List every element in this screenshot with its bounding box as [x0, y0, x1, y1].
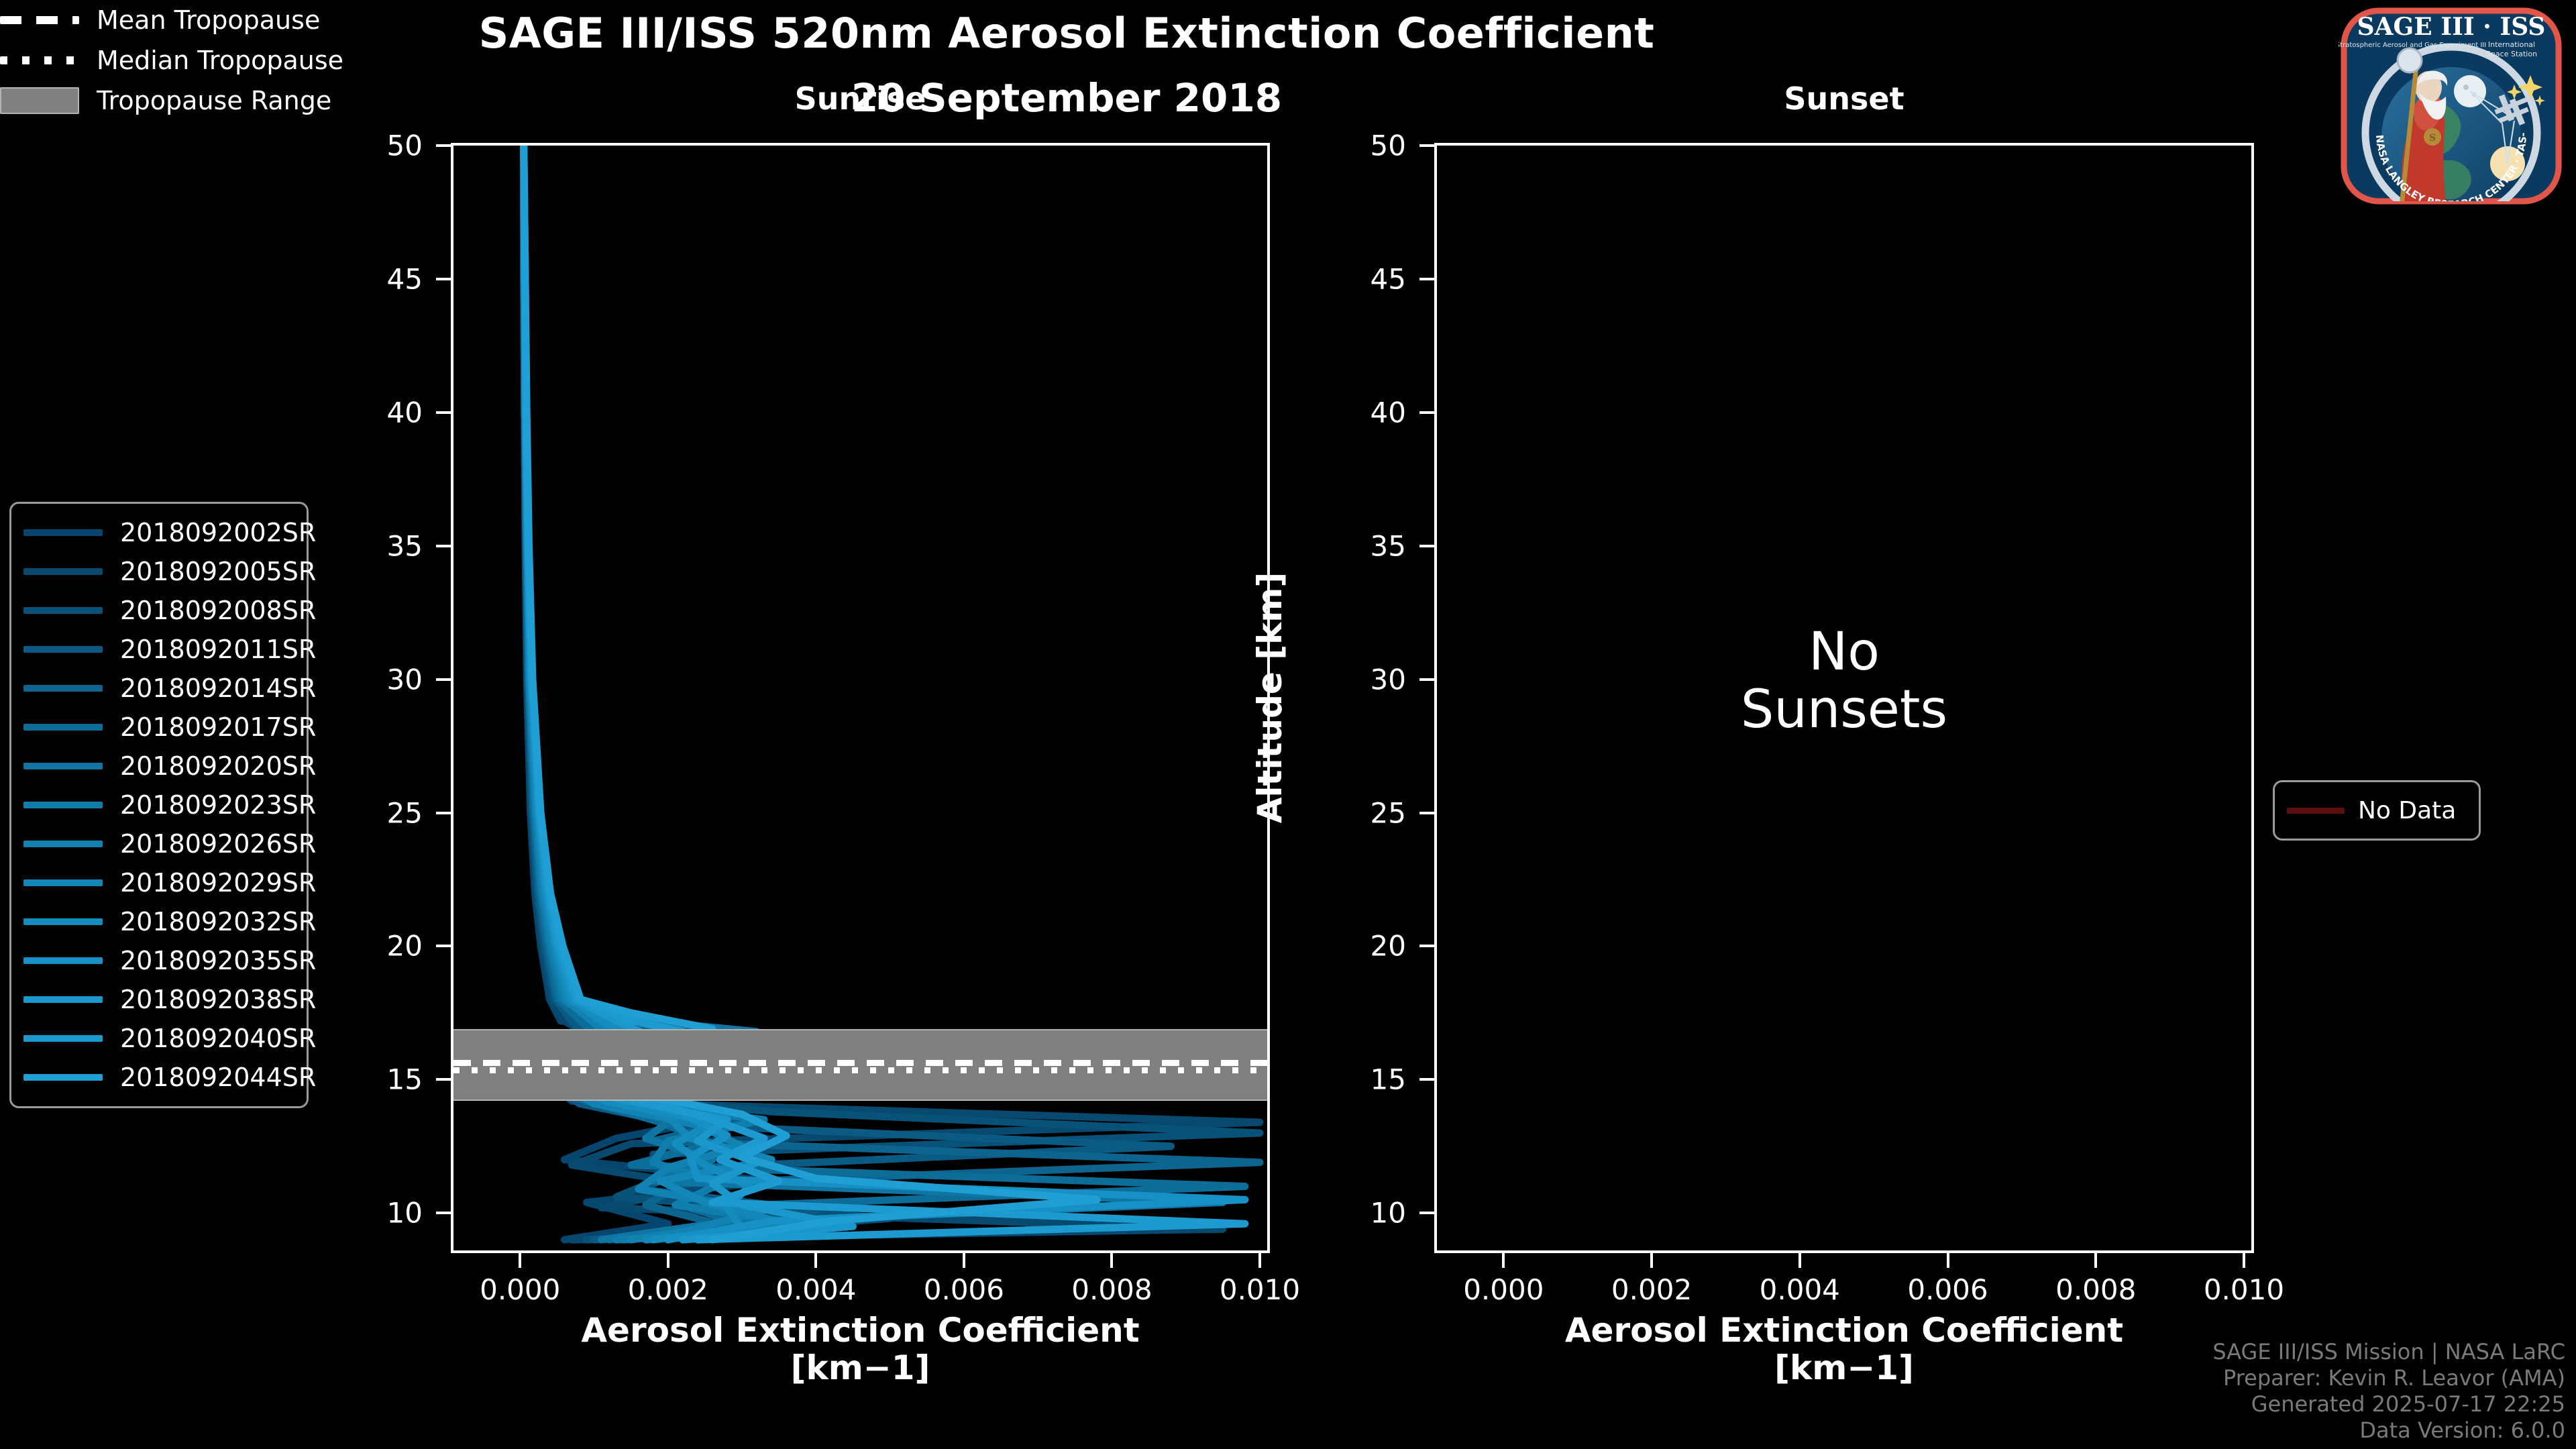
- y-tick-0-8: [436, 144, 451, 147]
- x-tick-1-2: [1799, 1253, 1801, 1268]
- legend-row[interactable]: 2018092002SR: [23, 513, 294, 552]
- legend-line-swatch-2018092008SR: [23, 607, 103, 614]
- svg-text:S: S: [2429, 133, 2436, 144]
- y-tick-1-6: [1419, 411, 1434, 414]
- sunrise-x-axis-title-line2: [km−1]: [451, 1349, 1270, 1387]
- logo-subtitle-right-line1: International: [2488, 40, 2535, 49]
- no-data-line-swatch: [2287, 808, 2345, 814]
- y-tick-0-0: [436, 1212, 451, 1214]
- x-tick-1-4: [2094, 1253, 2097, 1268]
- y-tick-1-2: [1419, 945, 1434, 947]
- legend-line-swatch-2018092029SR: [23, 879, 103, 886]
- legend-row[interactable]: 2018092005SR: [23, 552, 294, 591]
- x-tick-1-3: [1947, 1253, 1949, 1268]
- x-tick-0-4: [1110, 1253, 1113, 1268]
- legend-row: No Data: [2287, 792, 2467, 829]
- legend-row[interactable]: 2018092032SR: [23, 902, 294, 941]
- sunrise-x-axis-title-line1: Aerosol Extinction Coefficient: [451, 1311, 1270, 1349]
- y-tick-1-7: [1419, 278, 1434, 280]
- no-sunsets-message: No Sunsets: [1434, 624, 2254, 739]
- y-tick-label-0-0: 10: [295, 1197, 423, 1230]
- legend-label-2018092038SR: 2018092038SR: [120, 985, 316, 1014]
- median-tropopause-line: [453, 1067, 1267, 1073]
- mean-tropopause-line: [453, 1060, 1267, 1066]
- logo-subtitle-left: Stratospheric Aerosol and Gas Experiment…: [2339, 42, 2486, 49]
- legend-line-swatch-2018092005SR: [23, 568, 103, 575]
- legend-row[interactable]: 2018092008SR: [23, 591, 294, 630]
- legend-label-2018092008SR: 2018092008SR: [120, 596, 316, 625]
- footer-line-mission: SAGE III/ISS Mission | NASA LaRC: [2212, 1339, 2565, 1365]
- legend-line-swatch-2018092020SR: [23, 763, 103, 769]
- no-sunsets-line1: No: [1434, 624, 2254, 682]
- sage-iii-iss-mission-logo: S BALL · NASA LANGLEY RESEARCH CENTER · …: [2339, 5, 2564, 207]
- legend-row[interactable]: 2018092020SR: [23, 747, 294, 786]
- legend-label-2018092002SR: 2018092002SR: [120, 518, 316, 547]
- sunset-x-axis-title: Aerosol Extinction Coefficient [km−1]: [1434, 1311, 2254, 1387]
- no-data-label: No Data: [2358, 797, 2456, 824]
- legend-label-2018092020SR: 2018092020SR: [120, 751, 316, 781]
- footer-line-preparer: Preparer: Kevin R. Leavor (AMA): [2212, 1365, 2565, 1391]
- legend-row[interactable]: 2018092026SR: [23, 824, 294, 863]
- y-tick-label-1-7: 45: [1279, 262, 1406, 295]
- footer-line-dataversion: Data Version: 6.0.0: [2212, 1417, 2565, 1444]
- y-tick-0-2: [436, 945, 451, 947]
- y-tick-1-3: [1419, 812, 1434, 814]
- footer-credits: SAGE III/ISS Mission | NASA LaRC Prepare…: [2212, 1339, 2565, 1444]
- mission-patch-icon: S BALL · NASA LANGLEY RESEARCH CENTER · …: [2339, 5, 2564, 207]
- y-tick-0-6: [436, 411, 451, 414]
- legend-row[interactable]: 2018092014SR: [23, 669, 294, 708]
- panel-title-sunrise: Sunrise: [451, 80, 1270, 117]
- y-tick-label-1-3: 25: [1279, 796, 1406, 829]
- y-tick-0-4: [436, 678, 451, 681]
- x-tick-label-0-5: 0.010: [1173, 1273, 1347, 1306]
- page-title: SAGE III/ISS 520nm Aerosol Extinction Co…: [0, 12, 2133, 54]
- y-tick-1-8: [1419, 144, 1434, 147]
- legend-row[interactable]: 2018092017SR: [23, 708, 294, 747]
- y-tick-label-1-4: 30: [1279, 663, 1406, 696]
- legend-row[interactable]: 2018092029SR: [23, 863, 294, 902]
- no-data-legend[interactable]: No Data: [2273, 780, 2481, 841]
- y-tick-label-0-8: 50: [295, 129, 423, 162]
- profile-legend[interactable]: 2018092002SR2018092005SR2018092008SR2018…: [9, 502, 309, 1108]
- sunset-x-axis-title-line1: Aerosol Extinction Coefficient: [1434, 1311, 2254, 1349]
- legend-line-swatch-2018092017SR: [23, 724, 103, 731]
- legend-label-2018092011SR: 2018092011SR: [120, 635, 316, 664]
- panel-title-sunset: Sunset: [1434, 80, 2254, 117]
- x-tick-1-1: [1650, 1253, 1653, 1268]
- y-tick-label-1-5: 35: [1279, 529, 1406, 562]
- tropopause-swatch-dotted-white: [0, 56, 79, 64]
- x-tick-1-5: [2243, 1253, 2245, 1268]
- legend-line-swatch-2018092011SR: [23, 646, 103, 653]
- sunrise-plot-area: [451, 143, 1270, 1253]
- sunrise-plot-clip: [453, 146, 1267, 1250]
- x-tick-0-2: [814, 1253, 817, 1268]
- y-tick-label-0-7: 45: [295, 262, 423, 295]
- logo-title: SAGE III · ISS: [2357, 13, 2546, 41]
- legend-line-swatch-2018092002SR: [23, 529, 103, 536]
- footer-line-generated: Generated 2025-07-17 22:25: [2212, 1391, 2565, 1417]
- legend-row[interactable]: 2018092040SR: [23, 1019, 294, 1058]
- y-tick-1-4: [1419, 678, 1434, 681]
- y-tick-0-1: [436, 1078, 451, 1081]
- legend-label-2018092044SR: 2018092044SR: [120, 1063, 316, 1092]
- x-tick-1-0: [1502, 1253, 1505, 1268]
- y-tick-1-1: [1419, 1078, 1434, 1081]
- x-tick-0-0: [519, 1253, 521, 1268]
- x-tick-0-3: [963, 1253, 965, 1268]
- y-tick-label-0-6: 40: [295, 396, 423, 429]
- legend-label-2018092040SR: 2018092040SR: [120, 1024, 316, 1053]
- sunset-x-axis-title-line2: [km−1]: [1434, 1349, 2254, 1387]
- y-tick-0-5: [436, 545, 451, 547]
- x-tick-label-1-5: 0.010: [2157, 1273, 2331, 1306]
- legend-label-2018092029SR: 2018092029SR: [120, 868, 316, 898]
- legend-row[interactable]: 2018092044SR: [23, 1058, 294, 1097]
- y-tick-label-1-1: 15: [1279, 1063, 1406, 1096]
- y-tick-1-5: [1419, 545, 1434, 547]
- y-tick-label-1-0: 10: [1279, 1197, 1406, 1230]
- legend-row[interactable]: 2018092023SR: [23, 786, 294, 824]
- logo-subtitle-right-line2: Space Station: [2486, 50, 2537, 58]
- legend-line-swatch-2018092035SR: [23, 957, 103, 964]
- legend-line-swatch-2018092038SR: [23, 996, 103, 1003]
- y-tick-label-1-6: 40: [1279, 396, 1406, 429]
- legend-line-swatch-2018092032SR: [23, 918, 103, 925]
- sunrise-x-axis-title: Aerosol Extinction Coefficient [km−1]: [451, 1311, 1270, 1387]
- legend-line-swatch-2018092044SR: [23, 1074, 103, 1081]
- legend-label-2018092035SR: 2018092035SR: [120, 946, 316, 975]
- legend-label-2018092017SR: 2018092017SR: [120, 712, 316, 742]
- legend-label-2018092005SR: 2018092005SR: [120, 557, 316, 586]
- legend-label-2018092014SR: 2018092014SR: [120, 674, 316, 703]
- legend-label-2018092023SR: 2018092023SR: [120, 790, 316, 820]
- no-sunsets-line2: Sunsets: [1434, 682, 2254, 739]
- legend-line-swatch-2018092026SR: [23, 841, 103, 847]
- y-tick-label-1-2: 20: [1279, 930, 1406, 963]
- legend-line-swatch-2018092023SR: [23, 802, 103, 808]
- legend-row[interactable]: 2018092038SR: [23, 980, 294, 1019]
- legend-row[interactable]: 2018092035SR: [23, 941, 294, 980]
- x-tick-0-1: [667, 1253, 669, 1268]
- legend-row[interactable]: 2018092011SR: [23, 630, 294, 669]
- legend-line-swatch-2018092014SR: [23, 685, 103, 692]
- y-tick-1-0: [1419, 1212, 1434, 1214]
- legend-line-swatch-2018092040SR: [23, 1035, 103, 1042]
- sunset-y-axis-title: Altitude [km]: [1250, 547, 1289, 849]
- legend-label-2018092026SR: 2018092026SR: [120, 829, 316, 859]
- x-tick-0-5: [1258, 1253, 1261, 1268]
- y-tick-label-1-8: 50: [1279, 129, 1406, 162]
- legend-label-2018092032SR: 2018092032SR: [120, 907, 316, 936]
- y-tick-0-7: [436, 278, 451, 280]
- y-tick-0-3: [436, 812, 451, 814]
